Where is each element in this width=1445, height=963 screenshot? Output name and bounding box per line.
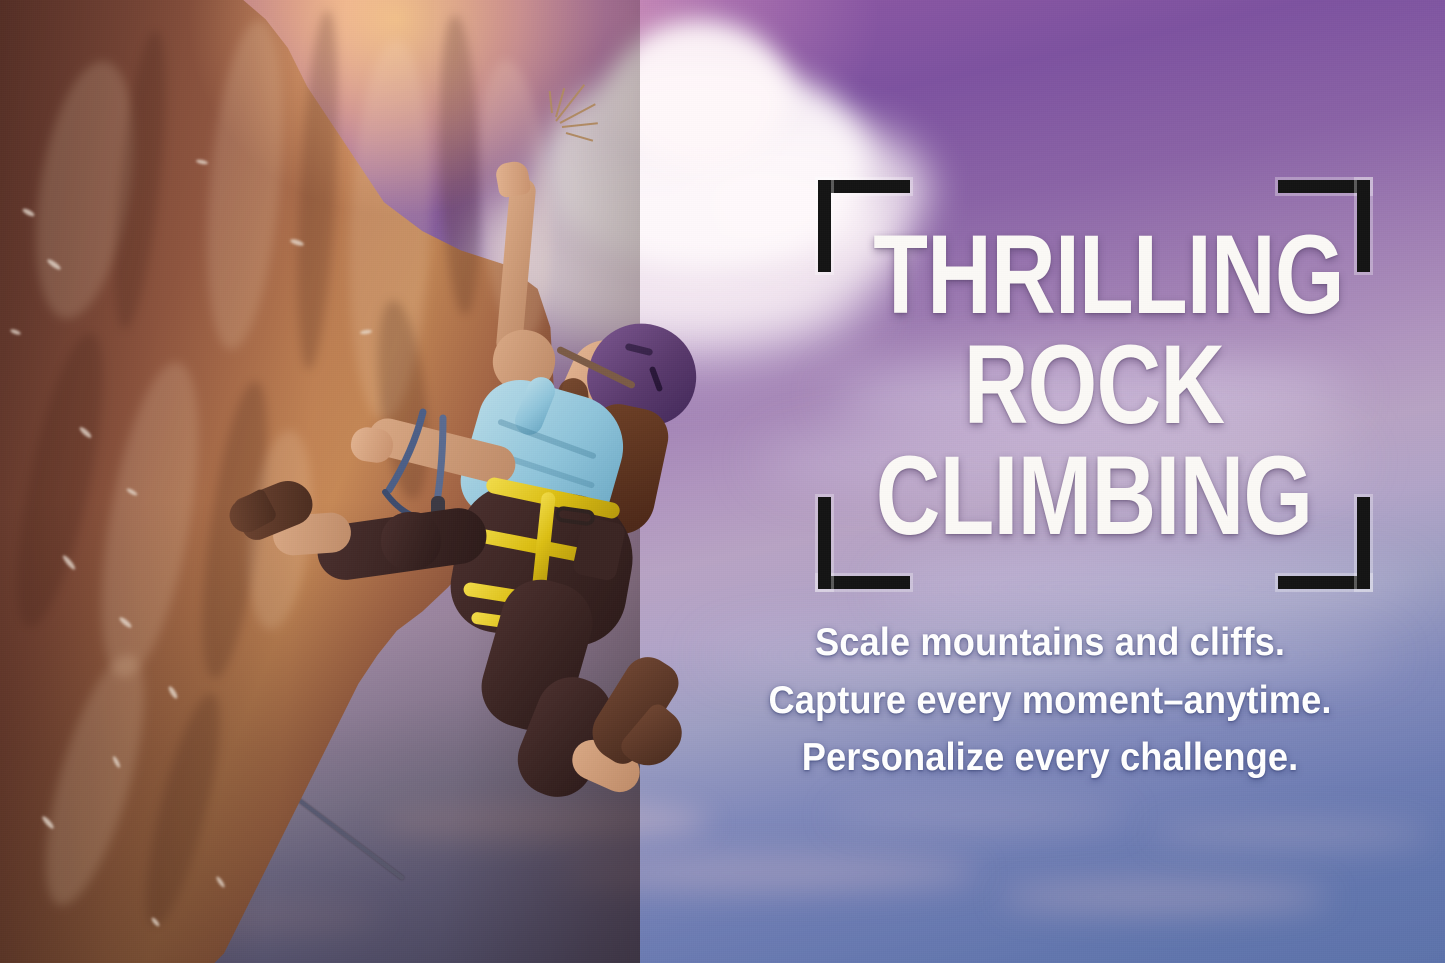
headline-line-1: THRILLING — [873, 220, 1315, 330]
promo-banner: THRILLING ROCK CLIMBING Scale mountains … — [0, 0, 1445, 963]
subtitle-line-3: Personalize every challenge. — [725, 729, 1376, 787]
headline-line-3: CLIMBING — [873, 441, 1315, 551]
subtitle-line-2: Capture every moment–anytime. — [725, 672, 1376, 730]
climber-left-knee — [381, 512, 441, 570]
page-title: THRILLING ROCK CLIMBING — [873, 180, 1315, 551]
climber-figure — [255, 160, 725, 800]
subtitle-block: Scale mountains and cliffs. Capture ever… — [725, 614, 1376, 787]
headline-block: THRILLING ROCK CLIMBING — [818, 180, 1370, 551]
subtitle-line-1: Scale mountains and cliffs. — [725, 614, 1376, 672]
headline-line-2: ROCK — [873, 330, 1315, 440]
climber-hand-upper — [494, 159, 531, 198]
